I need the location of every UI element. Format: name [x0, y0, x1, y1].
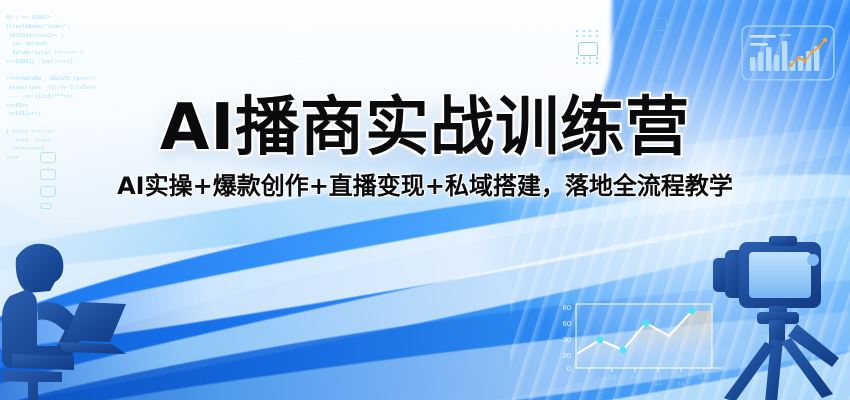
chip-circuit-icon	[570, 30, 604, 66]
x-tick-6b: 0-0	[700, 382, 707, 388]
analytics-dashboard-icon	[741, 25, 835, 81]
x-tick-6: 0-10	[699, 375, 709, 381]
camera-tripod-silhouette-icon	[703, 232, 850, 400]
person-with-laptop-silhouette-icon	[0, 236, 148, 400]
page-subtitle: AI实操+爆款创作+直播变现+私域搭建，落地全流程教学	[0, 174, 850, 198]
line-chart: 80 60 30 20 0 0-2 0-3 0-3 0-3 0-4 08-3 0…	[545, 298, 725, 390]
rounded-rect-stack-center-icon	[291, 8, 306, 72]
x-tick-1: 0-2	[585, 375, 592, 381]
x-tick-3: 0-3	[631, 375, 638, 381]
course-promo-banner: 01:/ >> 01001* {CreateNode("index") v011…	[0, 0, 850, 400]
x-tick-5b: 0-6	[677, 382, 684, 388]
arrow-marks-decoration: »»»»›	[6, 72, 29, 79]
y-tick-80: 80	[563, 303, 571, 312]
page-title: AI播商实战训练营	[0, 96, 850, 160]
y-tick-30: 30	[563, 335, 571, 344]
rounded-rect-stack-right-icon	[654, 18, 667, 86]
x-tick-2: 0-3	[608, 375, 615, 381]
x-tick-4: 0-3	[654, 375, 661, 381]
headline-block: AI播商实战训练营 AI实操+爆款创作+直播变现+私域搭建，落地全流程教学	[0, 96, 850, 198]
x-tick-5: 08-3	[676, 375, 686, 381]
y-tick-60: 60	[563, 319, 571, 328]
y-tick-20: 20	[563, 351, 571, 360]
x-tick-4b: 0-4	[654, 382, 661, 388]
y-tick-0: 0	[567, 364, 571, 373]
